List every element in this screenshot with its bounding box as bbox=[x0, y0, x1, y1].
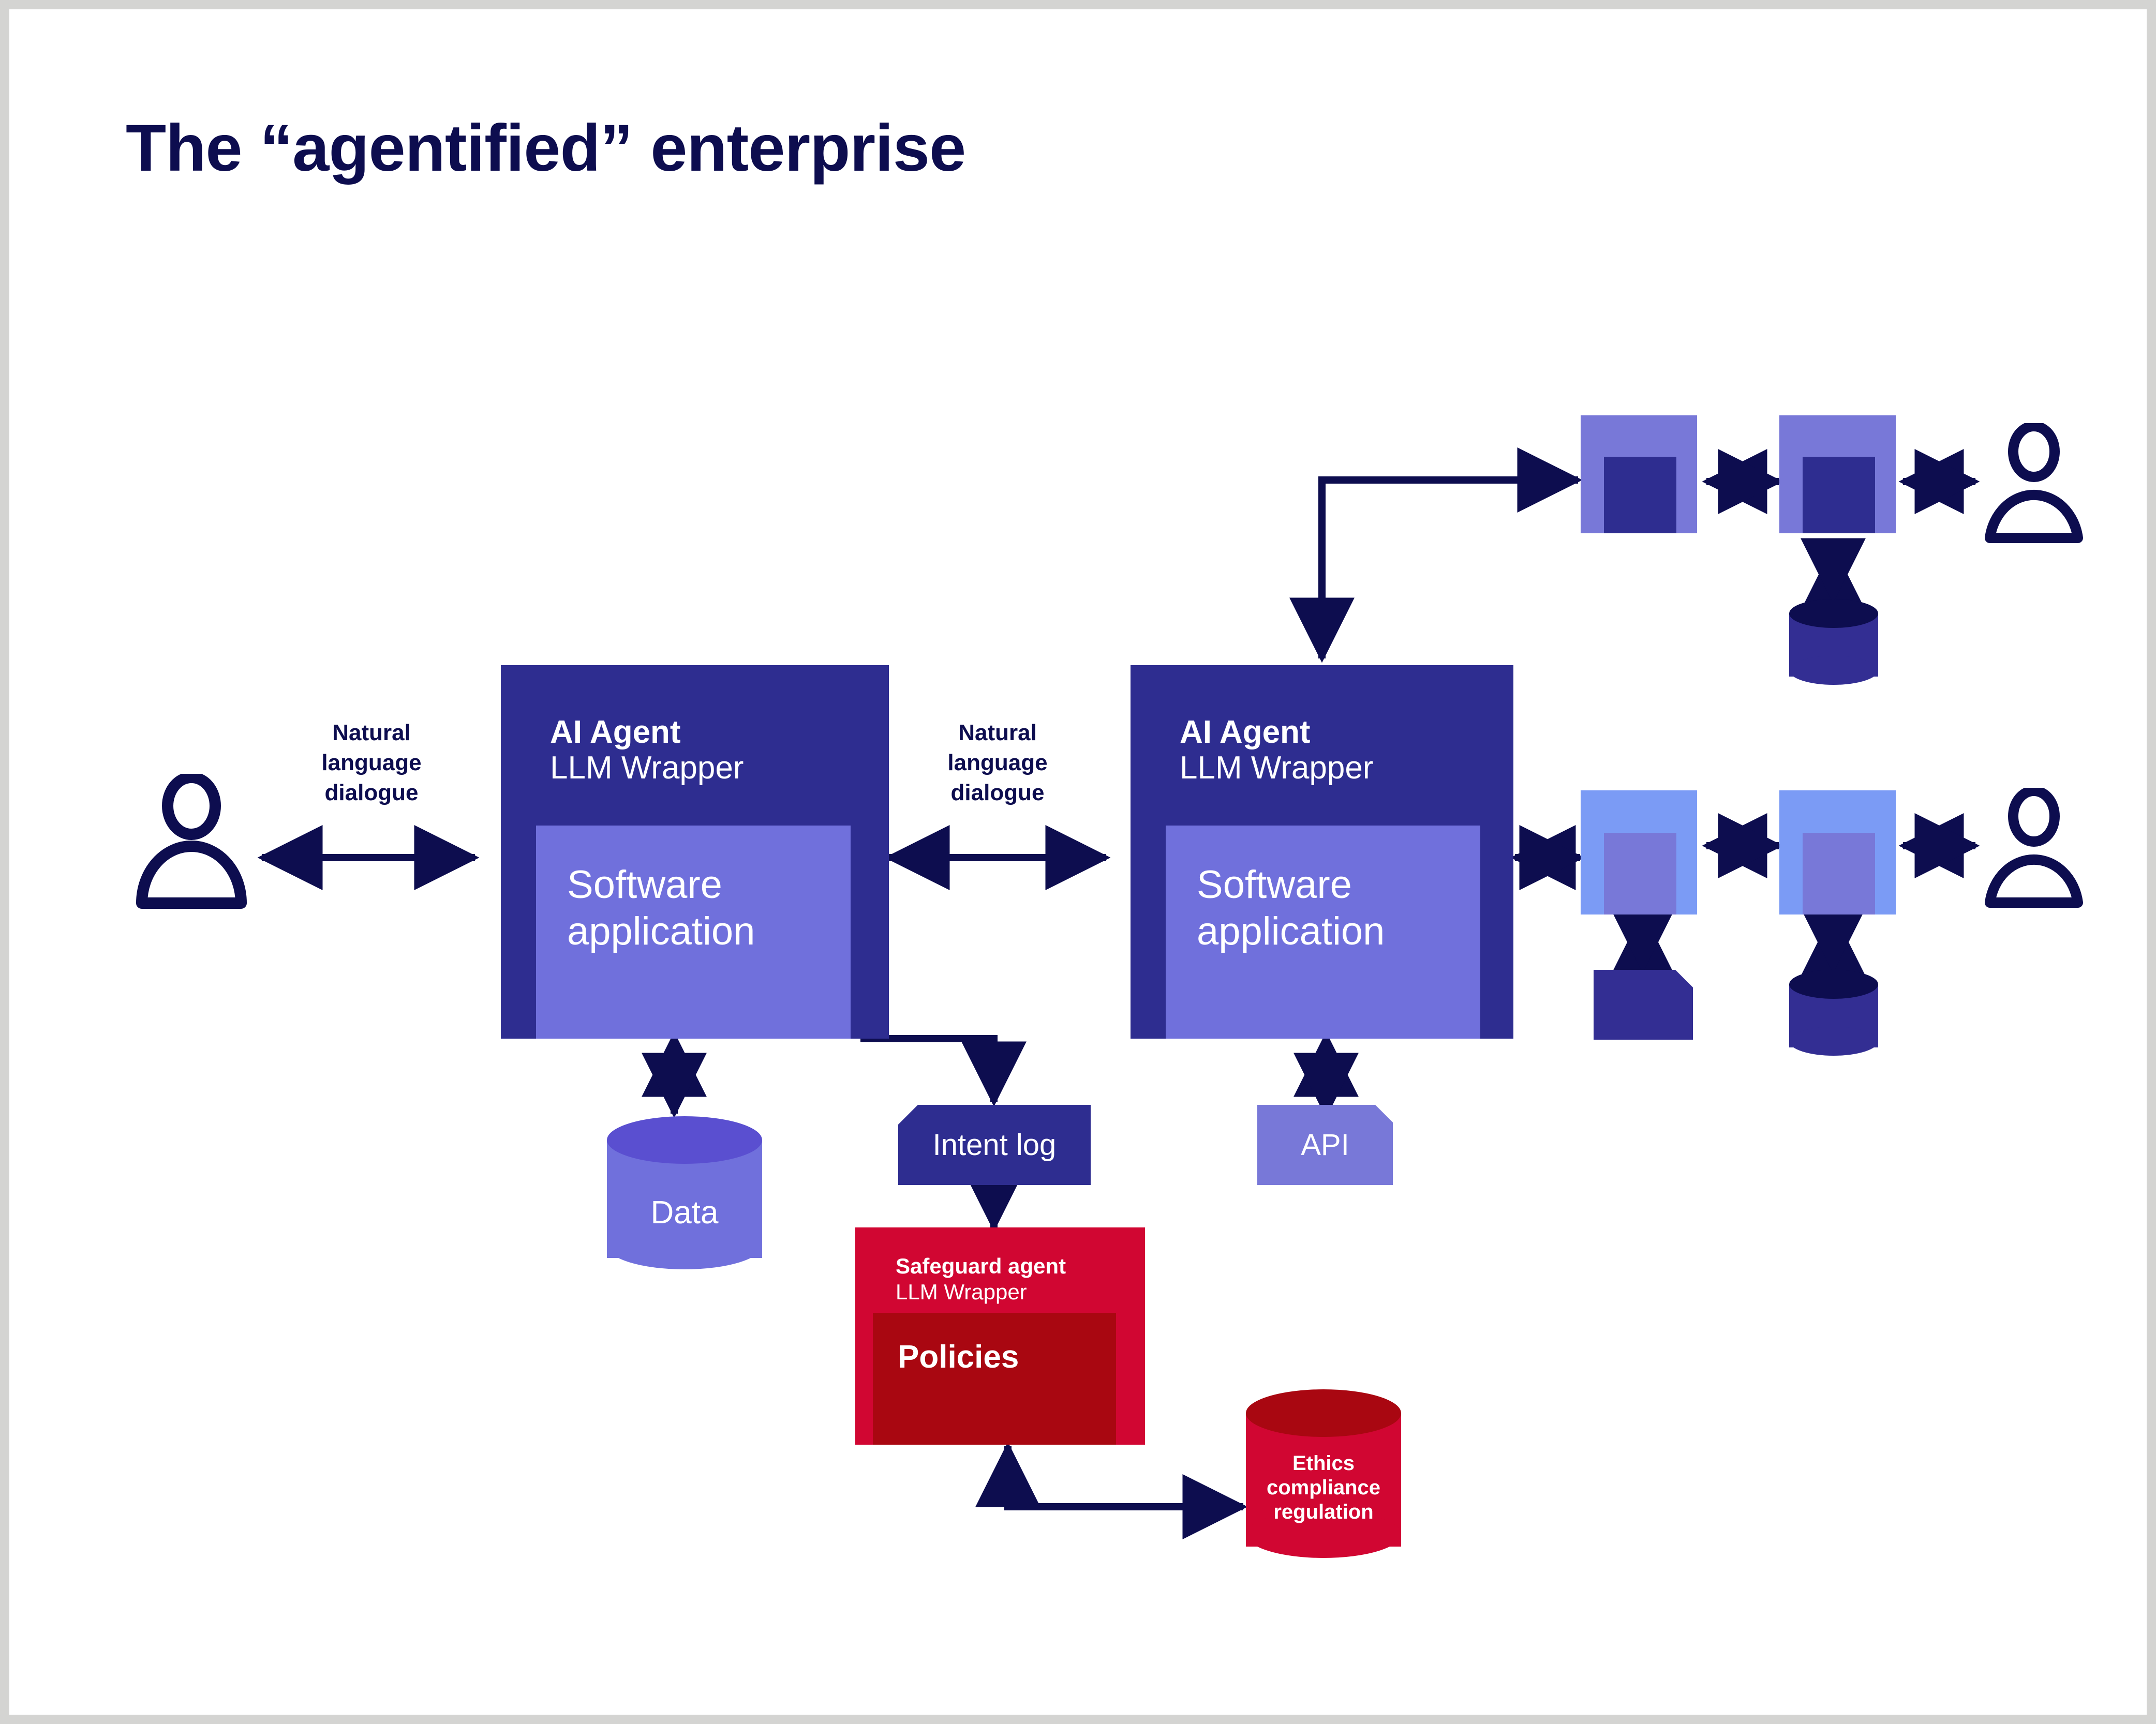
tile-mid-2-outer[interactable] bbox=[1779, 790, 1896, 915]
ai-agent-1-software-application[interactable]: Software application bbox=[536, 826, 851, 1039]
user-left-icon bbox=[129, 774, 254, 913]
user-top-right-icon bbox=[1979, 423, 2090, 547]
ai-agent-2-subtitle: LLM Wrapper bbox=[1180, 750, 1373, 786]
ethics-store-top-ellipse bbox=[1246, 1389, 1401, 1437]
ai-agent-2-box[interactable]: AI Agent LLM Wrapper Software applicatio… bbox=[1131, 665, 1513, 1039]
ethics-store-label: Ethics compliance regulation bbox=[1246, 1451, 1401, 1525]
ai-agent-2-heading: AI Agent LLM Wrapper bbox=[1180, 714, 1373, 786]
tile-mid-1-inner bbox=[1604, 833, 1676, 915]
store-mid-cylinder[interactable] bbox=[1789, 970, 1878, 1063]
arrow-label-middle-line2: language bbox=[947, 750, 1047, 775]
diagram-canvas: The “agentified” enterprise bbox=[9, 9, 2147, 1715]
arrow-label-middle-line3: dialogue bbox=[951, 780, 1045, 805]
arrow-agent1-intentlog bbox=[860, 1039, 994, 1102]
api-label: API bbox=[1257, 1105, 1393, 1185]
arrow-label-left-line2: language bbox=[321, 750, 421, 775]
arrow-agent2-cluster-top bbox=[1322, 480, 1578, 658]
data-store-label: Data bbox=[607, 1194, 762, 1232]
tile-top-1-outer[interactable] bbox=[1581, 415, 1697, 533]
intent-log-box[interactable]: Intent log bbox=[898, 1105, 1091, 1185]
store-top-cylinder[interactable] bbox=[1789, 599, 1878, 692]
tile-top-2-outer[interactable] bbox=[1779, 415, 1896, 533]
ai-agent-2-app-line2: application bbox=[1197, 909, 1385, 953]
ai-agent-1-app-line1: Software bbox=[567, 863, 722, 907]
ai-agent-2-app-line1: Software bbox=[1197, 863, 1352, 907]
page-title: The “agentified” enterprise bbox=[126, 110, 965, 186]
arrow-label-middle: Natural language dialogue bbox=[899, 718, 1096, 808]
policies-label: Policies bbox=[898, 1339, 1019, 1375]
arrow-policies-ethics bbox=[1008, 1446, 1243, 1507]
ai-agent-1-title: AI Agent bbox=[550, 714, 744, 750]
ethics-store-line2: compliance bbox=[1267, 1476, 1380, 1499]
api-box[interactable]: API bbox=[1257, 1105, 1393, 1185]
arrow-label-left: Natural language dialogue bbox=[278, 718, 465, 808]
ai-agent-2-app-label: Software application bbox=[1197, 862, 1385, 954]
store-top-top-ellipse bbox=[1789, 599, 1878, 628]
tile-top-2-inner bbox=[1803, 457, 1875, 533]
safeguard-subtitle: LLM Wrapper bbox=[896, 1279, 1066, 1305]
ai-agent-2-software-application[interactable]: Software application bbox=[1166, 826, 1480, 1039]
ai-agent-1-app-line2: application bbox=[567, 909, 755, 953]
ai-agent-1-subtitle: LLM Wrapper bbox=[550, 750, 744, 786]
arrow-label-middle-line1: Natural bbox=[958, 720, 1037, 745]
data-store-cylinder[interactable]: Data bbox=[607, 1116, 762, 1282]
safeguard-agent-box[interactable]: Safeguard agent LLM Wrapper Policies bbox=[855, 1227, 1145, 1445]
store-mid-top-ellipse bbox=[1789, 970, 1878, 999]
intent-log-label: Intent log bbox=[898, 1105, 1091, 1185]
ai-agent-1-app-label: Software application bbox=[567, 862, 755, 954]
safeguard-policies-box[interactable]: Policies bbox=[873, 1313, 1116, 1445]
user-mid-right-icon bbox=[1979, 788, 2090, 912]
ethics-compliance-regulation-cylinder[interactable]: Ethics compliance regulation bbox=[1246, 1389, 1401, 1570]
arrow-label-left-line3: dialogue bbox=[325, 780, 419, 805]
data-store-top-ellipse bbox=[607, 1116, 762, 1164]
tile-top-1-inner bbox=[1604, 457, 1676, 533]
store-mid-bottom-ellipse bbox=[1789, 1027, 1878, 1056]
ai-agent-2-title: AI Agent bbox=[1180, 714, 1373, 750]
ai-agent-1-box[interactable]: AI Agent LLM Wrapper Software applicatio… bbox=[501, 665, 889, 1039]
ethics-store-line1: Ethics bbox=[1292, 1452, 1355, 1475]
tile-mid-2-inner bbox=[1803, 833, 1875, 915]
ai-agent-1-heading: AI Agent LLM Wrapper bbox=[550, 714, 744, 786]
store-mid-box[interactable] bbox=[1594, 970, 1693, 1040]
arrow-label-left-line1: Natural bbox=[332, 720, 411, 745]
safeguard-title: Safeguard agent bbox=[896, 1253, 1066, 1279]
ethics-store-line3: regulation bbox=[1273, 1501, 1373, 1523]
tile-mid-1-outer[interactable] bbox=[1581, 790, 1697, 915]
store-top-bottom-ellipse bbox=[1789, 656, 1878, 685]
safeguard-heading: Safeguard agent LLM Wrapper bbox=[896, 1253, 1066, 1306]
